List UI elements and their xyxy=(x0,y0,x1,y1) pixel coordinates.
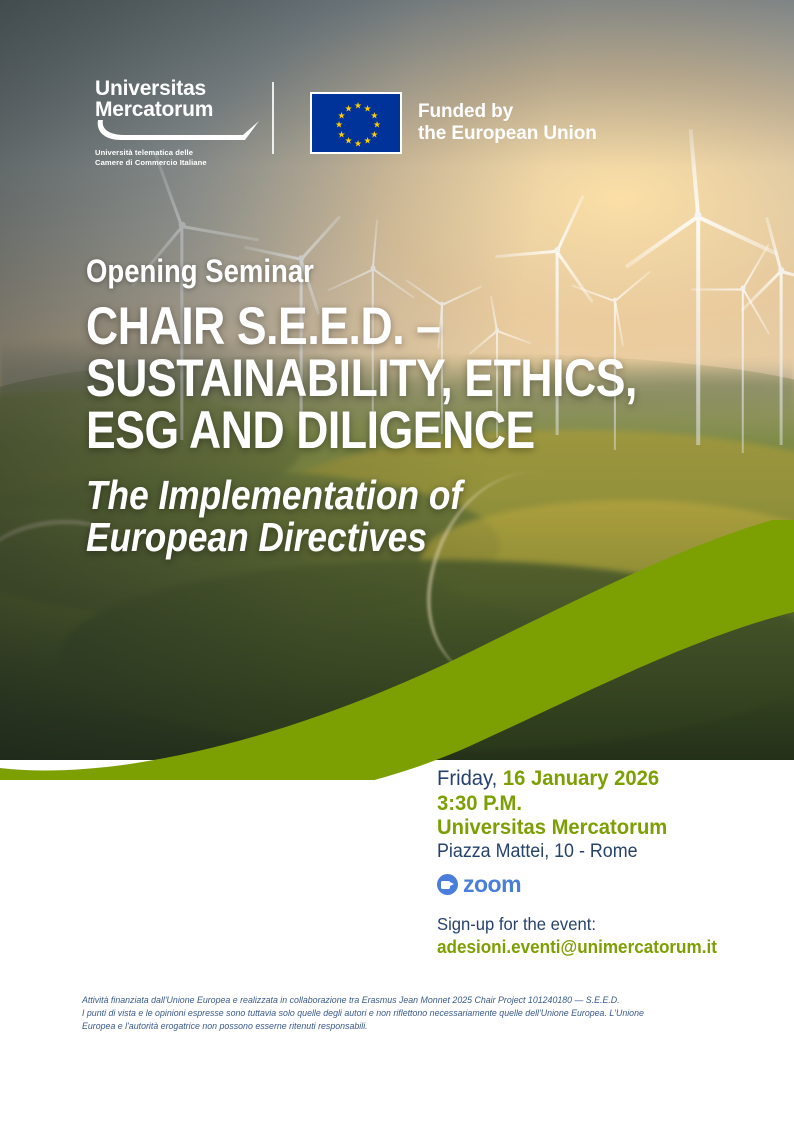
eu-star-icon: ★ xyxy=(344,137,352,146)
eu-funding-block: ★★★★★★★★★★★★ Funded by the European Unio… xyxy=(310,92,597,154)
headline-line3: ESG AND DILIGENCE xyxy=(86,405,624,457)
universitas-mercatorum-logo: Universitas Mercatorum Università telema… xyxy=(95,78,265,167)
logo-subtitle-line2: Camere di Commercio Italiane xyxy=(95,158,265,168)
event-details: Friday, 16 January 2026 3:30 P.M. Univer… xyxy=(437,766,767,959)
event-subheadline: The Implementation of European Directive… xyxy=(86,475,636,559)
event-date: 16 January 2026 xyxy=(503,766,659,790)
european-union-flag-icon: ★★★★★★★★★★★★ xyxy=(310,92,402,154)
zoom-logo[interactable]: zoom xyxy=(437,871,767,898)
subheadline-line1: The Implementation of xyxy=(86,475,636,517)
disclaimer-line1: Attività finanziata dall'Unione Europea … xyxy=(82,994,693,1007)
logo-swoosh-icon xyxy=(95,118,263,144)
headline-line2: SUSTAINABILITY, ETHICS, xyxy=(86,353,624,405)
logo-subtitle: Università telematica delle Camere di Co… xyxy=(95,148,265,167)
footer-disclaimer: Attività finanziata dall'Unione Europea … xyxy=(82,994,693,1033)
eu-star-icon: ★ xyxy=(363,137,371,146)
event-day: Friday, xyxy=(437,766,503,790)
event-venue: Universitas Mercatorum xyxy=(437,815,747,840)
logo-name-line1: Universitas xyxy=(95,78,265,99)
eu-star-icon: ★ xyxy=(335,121,343,130)
header-logos: Universitas Mercatorum Università telema… xyxy=(0,78,794,170)
eu-funding-text: Funded by the European Union xyxy=(418,101,597,146)
eu-star-icon: ★ xyxy=(354,140,362,149)
event-time: 3:30 P.M. xyxy=(437,791,747,816)
logo-subtitle-line1: Università telematica delle xyxy=(95,148,265,158)
eu-star-icon: ★ xyxy=(370,130,378,139)
event-date-line: Friday, 16 January 2026 xyxy=(437,766,747,791)
disclaimer-line3: Europea e l'autorità erogatrice non poss… xyxy=(82,1020,693,1033)
subheadline-line2: European Directives xyxy=(86,517,636,559)
eu-funded-line1: Funded by xyxy=(418,101,597,123)
signup-block: Sign-up for the event: adesioni.eventi@u… xyxy=(437,914,767,958)
disclaimer-line2: I punti di vista e le opinioni espresse … xyxy=(82,1007,693,1020)
event-address: Piazza Mattei, 10 - Rome xyxy=(437,841,747,863)
eu-funded-line2: the European Union xyxy=(418,123,597,145)
event-kicker: Opening Seminar xyxy=(86,255,636,287)
signup-email-link[interactable]: adesioni.eventi@unimercatorum.it xyxy=(437,936,751,959)
header-divider xyxy=(272,82,274,154)
headline-line1: CHAIR S.E.E.D. – xyxy=(86,301,624,353)
eu-star-icon: ★ xyxy=(337,130,345,139)
zoom-wordmark: zoom xyxy=(463,871,521,898)
signup-label: Sign-up for the event: xyxy=(437,914,751,936)
zoom-camera-icon xyxy=(437,874,458,895)
event-headline: CHAIR S.E.E.D. – SUSTAINABILITY, ETHICS,… xyxy=(86,301,624,457)
title-block: Opening Seminar CHAIR S.E.E.D. – SUSTAIN… xyxy=(86,255,726,558)
eu-star-icon: ★ xyxy=(354,102,362,111)
eu-star-icon: ★ xyxy=(344,104,352,113)
logo-name: Universitas Mercatorum xyxy=(95,78,265,121)
